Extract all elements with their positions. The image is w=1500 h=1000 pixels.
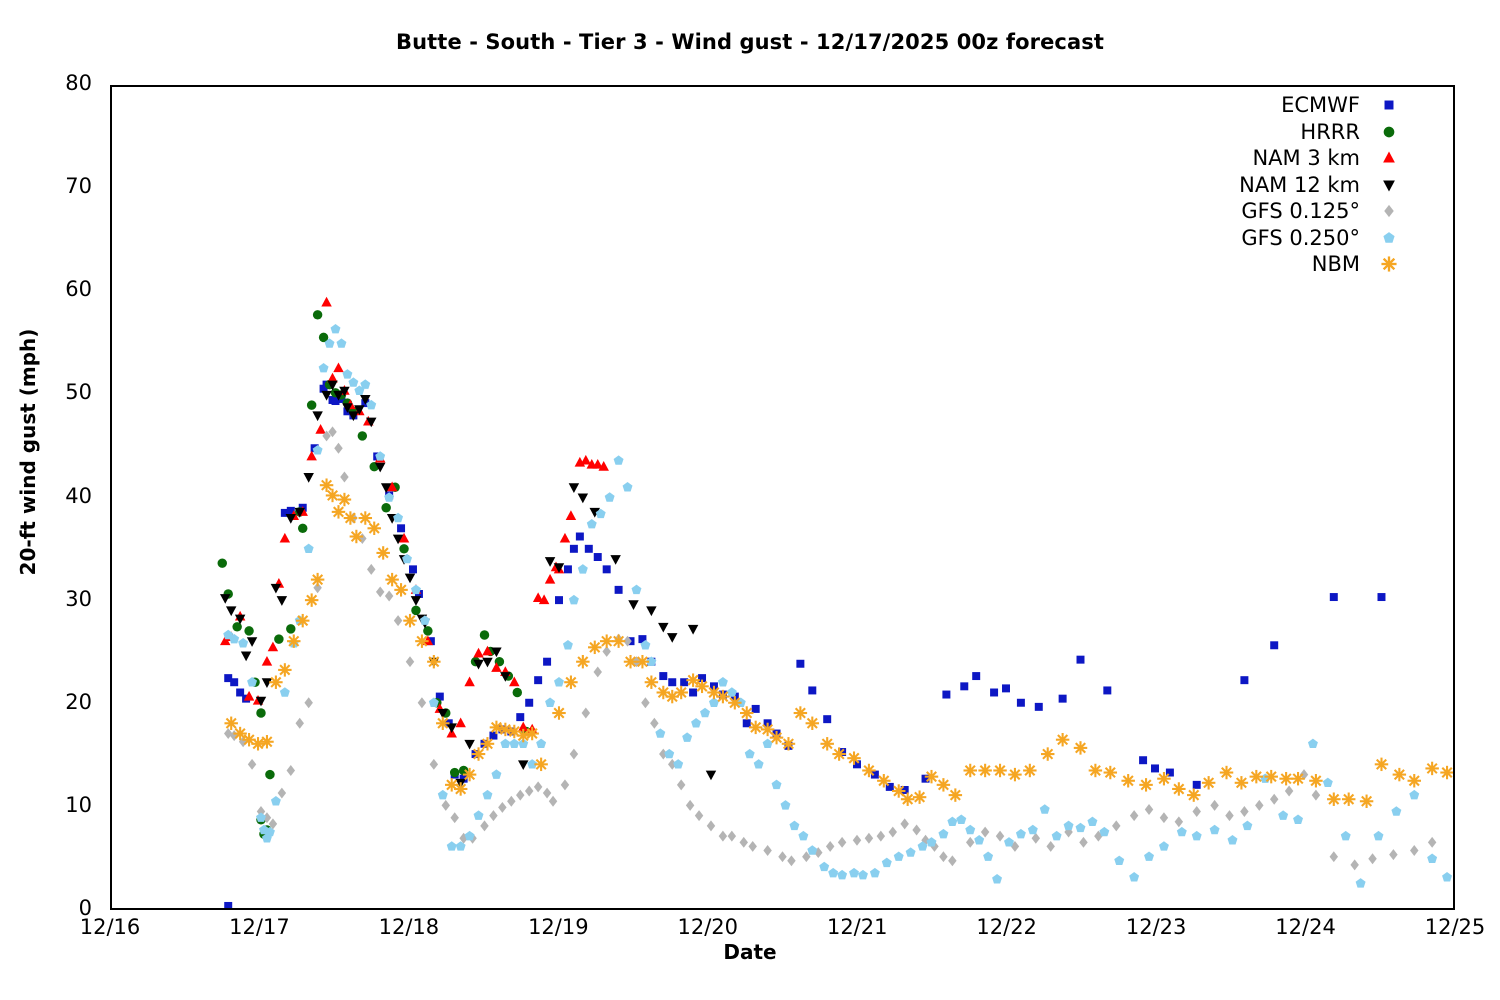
page-title: Butte - South - Tier 3 - Wind gust - 12/… bbox=[0, 30, 1500, 54]
legend-item-label: GFS 0.125° bbox=[1241, 199, 1378, 223]
x-tick-label: 12/20 bbox=[648, 915, 768, 939]
pentagon-marker-icon bbox=[1378, 227, 1400, 249]
circle-marker-icon bbox=[1378, 121, 1400, 143]
legend-item-label: ECMWF bbox=[1281, 93, 1378, 117]
legend-item-nam-12-km[interactable]: NAM 12 km bbox=[1185, 172, 1400, 199]
y-tick-label: 10 bbox=[12, 793, 92, 817]
legend-item-gfs-0-125[interactable]: GFS 0.125° bbox=[1185, 198, 1400, 225]
triangle-up-marker-icon bbox=[1378, 147, 1400, 169]
series-hrrr bbox=[218, 310, 531, 839]
x-tick-label: 12/21 bbox=[797, 915, 917, 939]
legend-item-label: NBM bbox=[1312, 252, 1378, 276]
x-tick-label: 12/23 bbox=[1096, 915, 1216, 939]
legend-item-label: NAM 12 km bbox=[1239, 173, 1378, 197]
legend-item-label: NAM 3 km bbox=[1252, 146, 1378, 170]
y-tick-label: 30 bbox=[12, 587, 92, 611]
triangle-down-marker-icon bbox=[1378, 174, 1400, 196]
y-tick-label: 50 bbox=[12, 380, 92, 404]
y-axis-label: 20-ft wind gust (mph) bbox=[16, 132, 40, 772]
x-tick-label: 12/19 bbox=[498, 915, 618, 939]
legend-item-nbm[interactable]: NBM bbox=[1185, 251, 1400, 278]
series-nbm bbox=[224, 478, 1453, 808]
x-tick-label: 12/17 bbox=[199, 915, 319, 939]
y-tick-label: 70 bbox=[12, 174, 92, 198]
y-tick-label: 20 bbox=[12, 690, 92, 714]
x-tick-label: 12/16 bbox=[50, 915, 170, 939]
legend-item-gfs-0-250[interactable]: GFS 0.250° bbox=[1185, 225, 1400, 252]
diamond-marker-icon bbox=[1378, 200, 1400, 222]
asterisk-marker-icon bbox=[1378, 253, 1400, 275]
square-marker-icon bbox=[1378, 94, 1400, 116]
y-tick-label: 40 bbox=[12, 484, 92, 508]
legend-item-nam-3-km[interactable]: NAM 3 km bbox=[1185, 145, 1400, 172]
y-tick-label: 60 bbox=[12, 277, 92, 301]
y-tick-label: 80 bbox=[12, 71, 92, 95]
chart-legend: ECMWFHRRRNAM 3 kmNAM 12 kmGFS 0.125°GFS … bbox=[1185, 92, 1400, 278]
x-axis-label: Date bbox=[0, 940, 1500, 964]
chart-page: Butte - South - Tier 3 - Wind gust - 12/… bbox=[0, 0, 1500, 1000]
series-gfs-0-250 bbox=[223, 324, 1452, 888]
series-nam-3-km bbox=[220, 297, 609, 738]
x-tick-label: 12/24 bbox=[1246, 915, 1366, 939]
series-nam-12-km bbox=[220, 381, 716, 789]
legend-item-ecmwf[interactable]: ECMWF bbox=[1185, 92, 1400, 119]
legend-item-hrrr[interactable]: HRRR bbox=[1185, 119, 1400, 146]
legend-item-label: GFS 0.250° bbox=[1241, 226, 1378, 250]
x-tick-label: 12/22 bbox=[947, 915, 1067, 939]
x-tick-label: 12/25 bbox=[1395, 915, 1500, 939]
x-tick-label: 12/18 bbox=[349, 915, 469, 939]
series-gfs-0-125 bbox=[224, 426, 1436, 870]
legend-item-label: HRRR bbox=[1300, 120, 1378, 144]
